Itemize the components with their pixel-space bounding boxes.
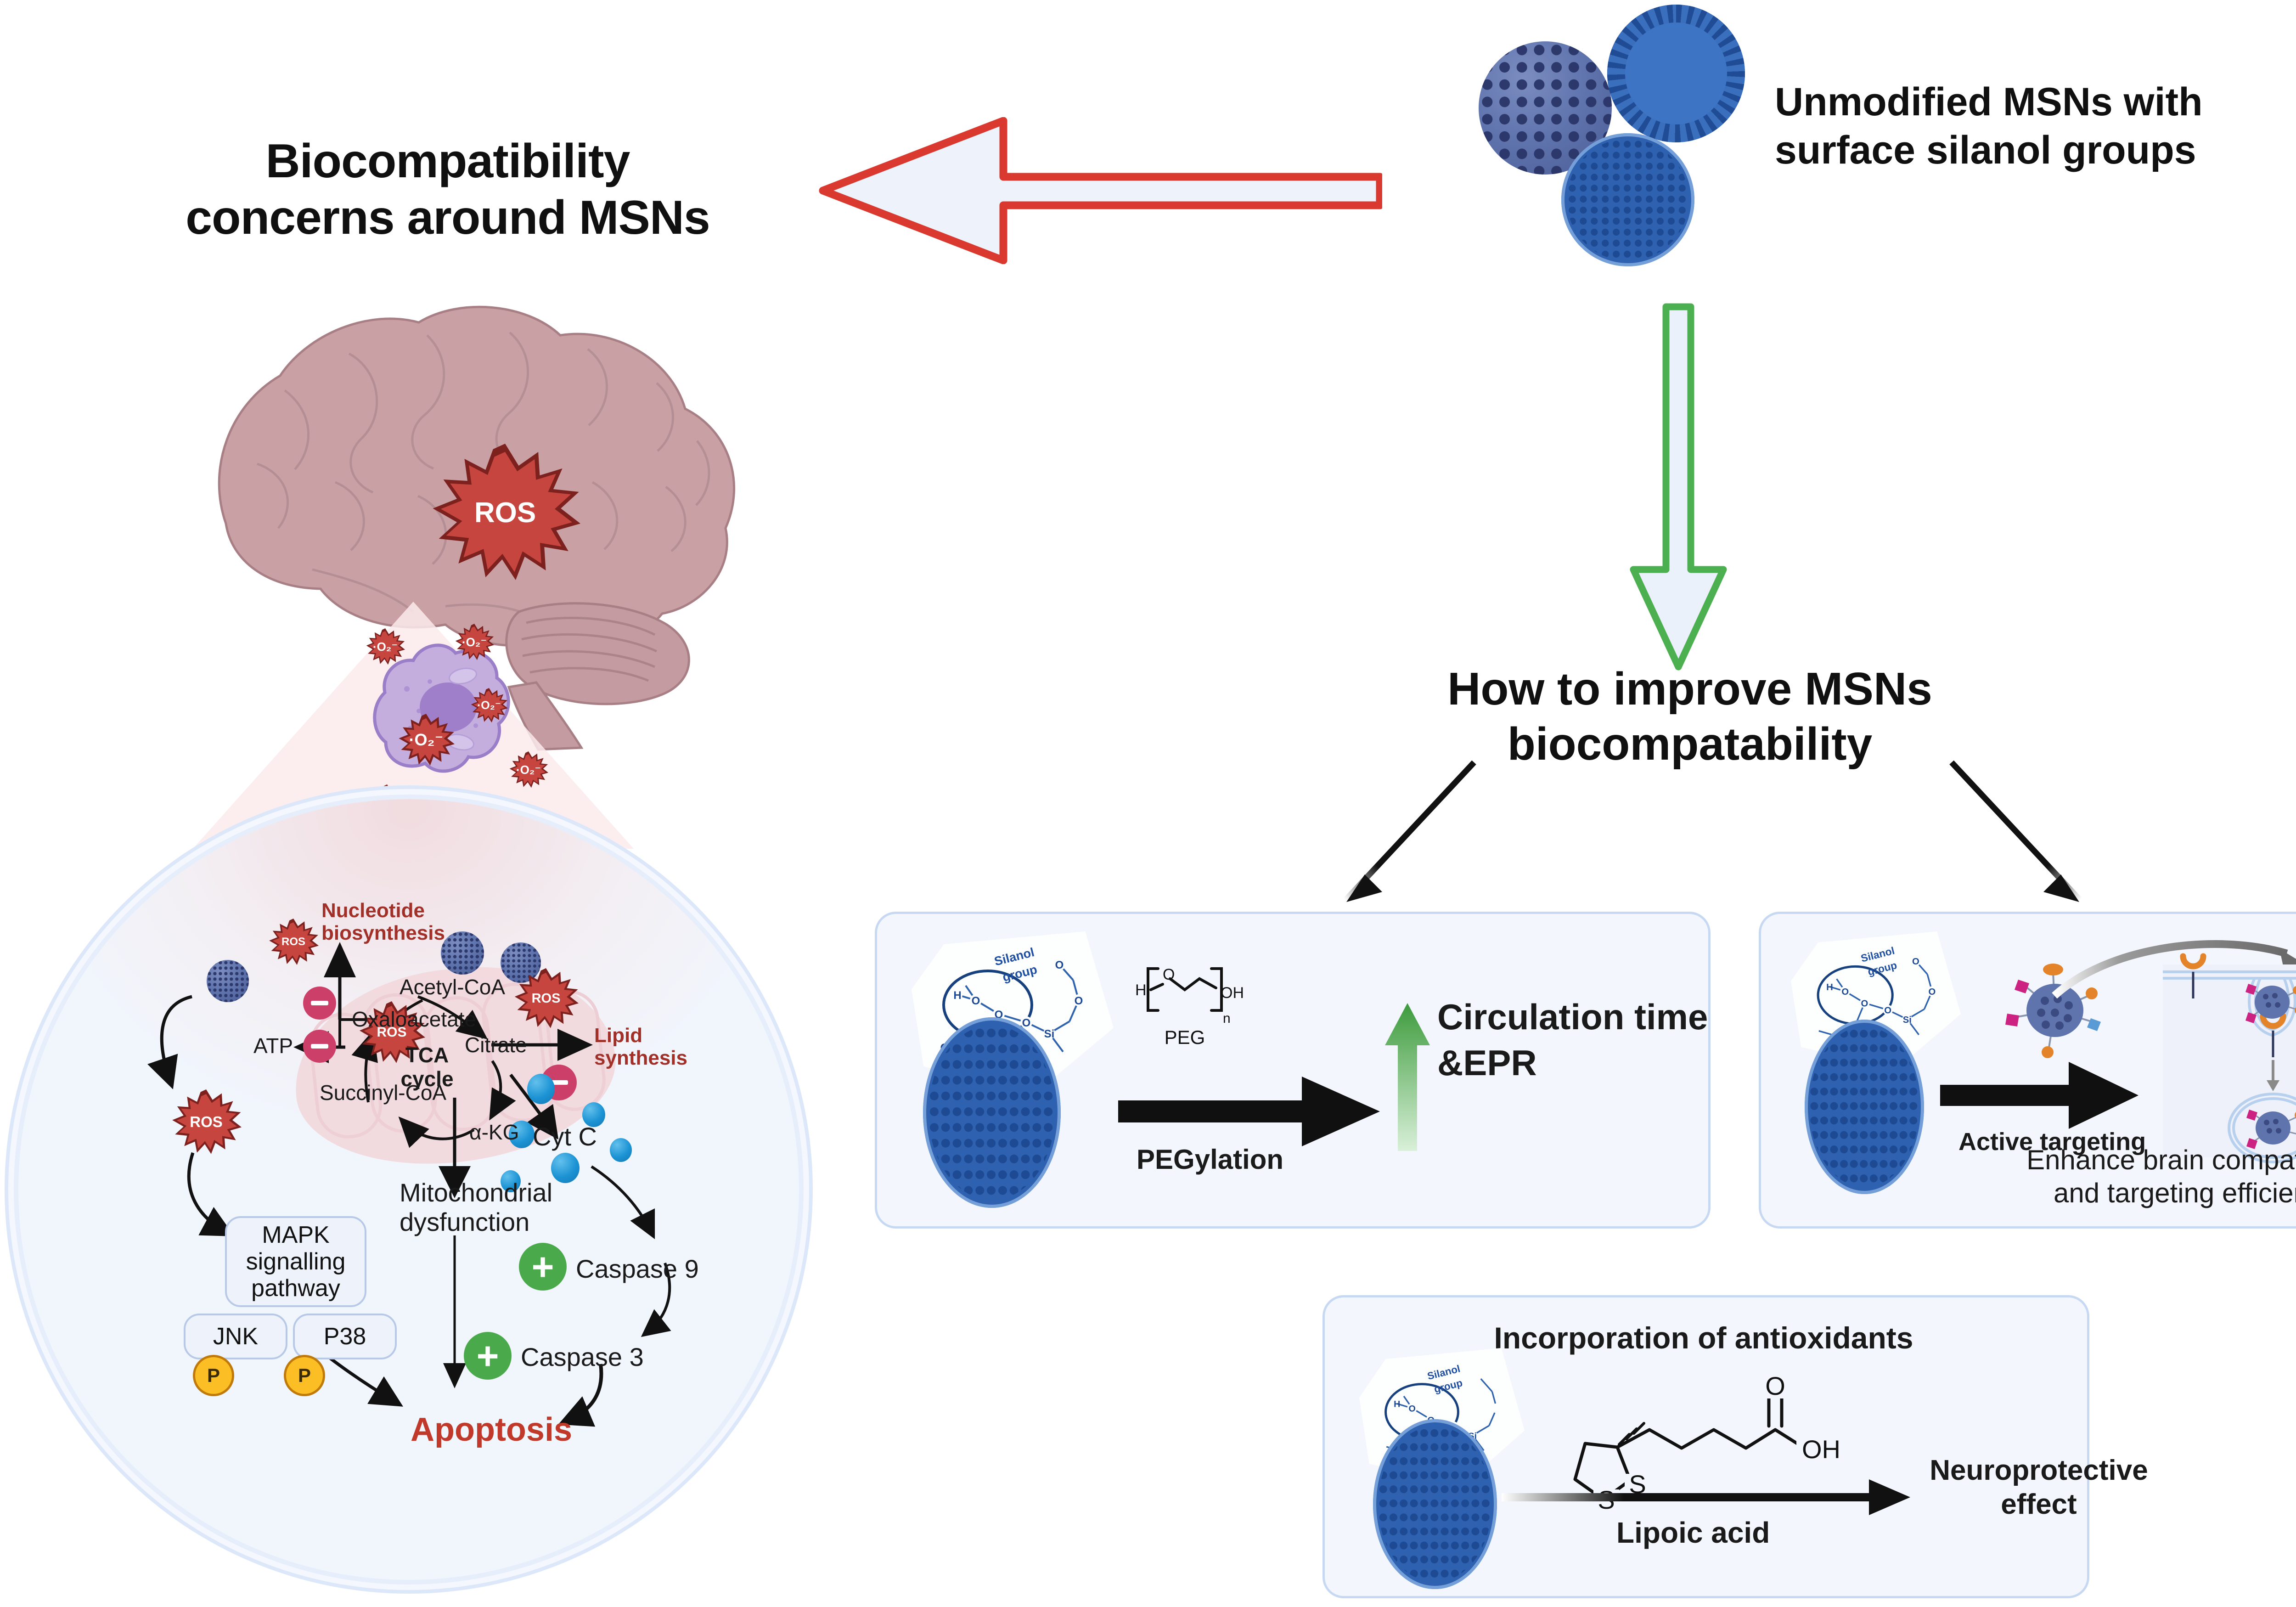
lipoic-atom-o: O [1765, 1371, 1785, 1400]
page-title: Biocompatibility concerns around MSNs [138, 133, 758, 246]
mapk-box-l3: pathway [246, 1275, 346, 1302]
pegylation-outcome-l1: Circulation time [1437, 994, 1786, 1040]
peg-atom-h: H [1135, 981, 1147, 999]
svg-text:O: O [1055, 959, 1064, 971]
superoxide-label: ·O₂⁻ [462, 635, 487, 649]
page-title-line2: concerns around MSNs [138, 190, 758, 246]
activator-badge: + [519, 1243, 567, 1291]
svg-text:O: O [1408, 1404, 1415, 1414]
pegylation-outcome-l2: &EPR [1437, 1040, 1786, 1086]
svg-text:O: O [1841, 987, 1849, 997]
svg-text:O: O [1861, 998, 1868, 1009]
mapk-pathway-box: MAPK signalling pathway [225, 1216, 366, 1307]
svg-text:O: O [1912, 957, 1919, 967]
jnk-label: JNK [213, 1323, 258, 1350]
activator-badge: + [464, 1332, 512, 1380]
lipid-synthesis-l1: Lipid [594, 1024, 714, 1047]
top-right-heading: Unmodified MSNs with surface silanol gro… [1775, 78, 2296, 175]
caspase3-label: Caspase 3 [521, 1342, 644, 1372]
mapk-box-l1: MAPK [246, 1222, 346, 1248]
acetyl-coa-label: Acetyl-CoA [400, 975, 505, 999]
top-right-heading-line1: Unmodified MSNs with [1775, 78, 2296, 126]
superoxide-label: ·O₂⁻ [373, 640, 398, 654]
msn-particle-in-cell [501, 942, 541, 983]
p38-label: P38 [324, 1323, 366, 1350]
svg-text:O: O [972, 995, 980, 1007]
svg-text:O: O [1884, 1006, 1891, 1016]
green-down-arrow-icon [1623, 303, 1733, 671]
fanout-arrows [1277, 749, 2149, 932]
lipid-synthesis-l2: synthesis [594, 1047, 714, 1069]
tca-cycle-l1: TCA [381, 1043, 473, 1067]
ros-label: ROS [532, 991, 561, 1006]
lipid-synthesis-label: Lipid synthesis [594, 1024, 714, 1070]
oxaloacetate-label: Oxaloacetate [352, 1007, 476, 1032]
phosphorylation-badge: P [284, 1355, 325, 1396]
ros-label: ROS [281, 936, 305, 948]
phospho-label: P [207, 1365, 220, 1387]
svg-text:H: H [1826, 982, 1833, 992]
superoxide-label: ·O₂⁻ [409, 730, 444, 750]
mitochondrial-dysfunction-label: Mitochondrial dysfunction [400, 1178, 592, 1237]
msn-particle-pegylation [923, 1017, 1061, 1208]
pegylation-outcome: Circulation time &EPR [1437, 994, 1786, 1086]
tca-cycle-label: TCA cycle [381, 1043, 473, 1091]
endocytosis-schematic [2163, 951, 2296, 1167]
svg-text:Si: Si [1044, 1028, 1055, 1040]
svg-text:O: O [1075, 995, 1083, 1007]
page-title-line1: Biocompatibility [138, 133, 758, 190]
ros-label: ROS [190, 1113, 223, 1131]
active-targeting-outcome-l1: Enhance brain compatibility [1975, 1144, 2296, 1177]
inhibitor-badge [303, 1030, 336, 1063]
jnk-box: JNK [184, 1314, 287, 1359]
svg-text:H: H [953, 989, 961, 1002]
antioxidants-outcome: Neuroprotective effect [1919, 1454, 2158, 1522]
nucleotide-biosynthesis-l2: biosynthesis [321, 922, 473, 944]
active-targeting-arrow [1940, 1056, 2142, 1134]
superoxide-label: ·O₂⁻ [477, 699, 501, 712]
peg-atom-oh: OH [1221, 984, 1244, 1002]
tca-cycle-l2: cycle [381, 1067, 473, 1091]
mito-dysfunction-l2: dysfunction [400, 1207, 592, 1237]
svg-text:O: O [1928, 987, 1936, 997]
antioxidants-outcome-l1: Neuroprotective [1919, 1454, 2158, 1488]
active-targeting-outcome: Enhance brain compatibility and targetin… [1975, 1144, 2296, 1210]
active-targeting-outcome-l2: and targeting efficiency [1975, 1177, 2296, 1210]
msn-particle-antioxidant [1373, 1419, 1497, 1589]
apoptosis-label: Apoptosis [411, 1411, 572, 1449]
msn-particle-targeting [1805, 1020, 1924, 1194]
cytochrome-c-dot [610, 1138, 632, 1162]
mito-dysfunction-l1: Mitochondrial [400, 1178, 592, 1207]
pegylation-process-label: PEGylation [1137, 1144, 1283, 1175]
peg-molecule-structure: H O OH n PEG [1134, 944, 1286, 1077]
cyt-c-label: Cyt C [533, 1122, 597, 1151]
svg-text:H: H [1394, 1399, 1400, 1410]
akg-label: α-KG [469, 1120, 519, 1145]
peg-atom-o: O [1163, 966, 1175, 983]
top-right-heading-line2: surface silanol groups [1775, 126, 2296, 175]
superoxide-label: ·O₂⁻ [516, 763, 541, 777]
atp-label: ATP [253, 1033, 293, 1058]
msn-particle-in-cell [207, 960, 249, 1002]
mapk-box-l2: signalling [246, 1248, 346, 1275]
phospho-label: P [298, 1365, 311, 1387]
red-left-arrow-icon [817, 117, 1382, 264]
caspase9-label: Caspase 9 [576, 1254, 699, 1284]
lipoic-acid-label: Lipoic acid [1616, 1516, 1770, 1550]
lipoic-acid-arrow [1502, 1472, 1915, 1522]
svg-text:Si: Si [1903, 1015, 1912, 1025]
cytochrome-c-dot [527, 1074, 555, 1104]
citrate-label: Citrate [465, 1032, 527, 1057]
up-arrow-icon [1382, 1001, 1433, 1153]
msn-particle-ring [1607, 5, 1745, 142]
phosphorylation-badge: P [193, 1355, 234, 1396]
lipoic-atom-oh: OH [1802, 1435, 1840, 1464]
antioxidants-outcome-l2: effect [1919, 1488, 2158, 1522]
msn-particle-porous [1561, 133, 1694, 266]
pegylation-arrow [1118, 1070, 1384, 1153]
section-heading-line1: How to improve MSNs [1300, 661, 2080, 716]
peg-name-label: PEG [1165, 1026, 1205, 1048]
p38-box: P38 [293, 1314, 397, 1359]
nucleotide-biosynthesis-label: Nucleotide biosynthesis [321, 899, 473, 945]
ros-burst-label: ROS [474, 496, 536, 529]
peg-subscript-n: n [1223, 1011, 1231, 1026]
nucleotide-biosynthesis-l1: Nucleotide [321, 899, 473, 922]
inhibitor-badge [303, 987, 336, 1020]
